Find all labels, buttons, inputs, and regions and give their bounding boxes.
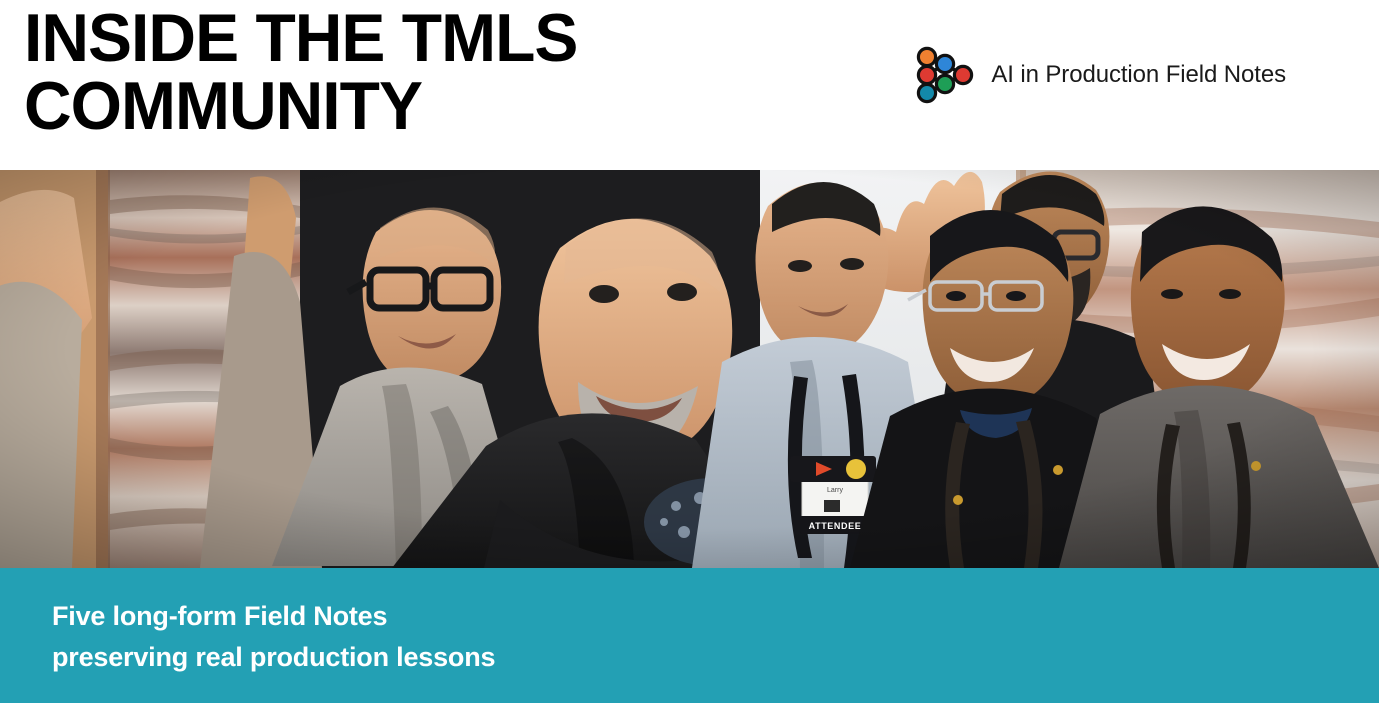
page-title: INSIDE THE TMLS COMMUNITY [24, 4, 824, 140]
page-title-line-2: COMMUNITY [24, 72, 800, 140]
caption-text: Five long-form Field Notes preserving re… [52, 596, 1252, 678]
caption-line-2: preserving real production lessons [52, 637, 1252, 678]
page-title-line-1: INSIDE THE TMLS [24, 4, 800, 72]
slide-header: INSIDE THE TMLS COMMUNITY [0, 0, 1379, 170]
caption-banner: Five long-form Field Notes preserving re… [0, 568, 1379, 703]
caption-line-1: Five long-form Field Notes [52, 596, 1252, 637]
hero-photo: ATTENDEE Larry [0, 170, 1379, 568]
slide-root: INSIDE THE TMLS COMMUNITY [0, 0, 1379, 703]
brand-text: AI in Production Field Notes [991, 61, 1286, 89]
network-graph-logo-icon [914, 44, 976, 106]
brand-lockup: AI in Production Field Notes [914, 44, 1286, 106]
